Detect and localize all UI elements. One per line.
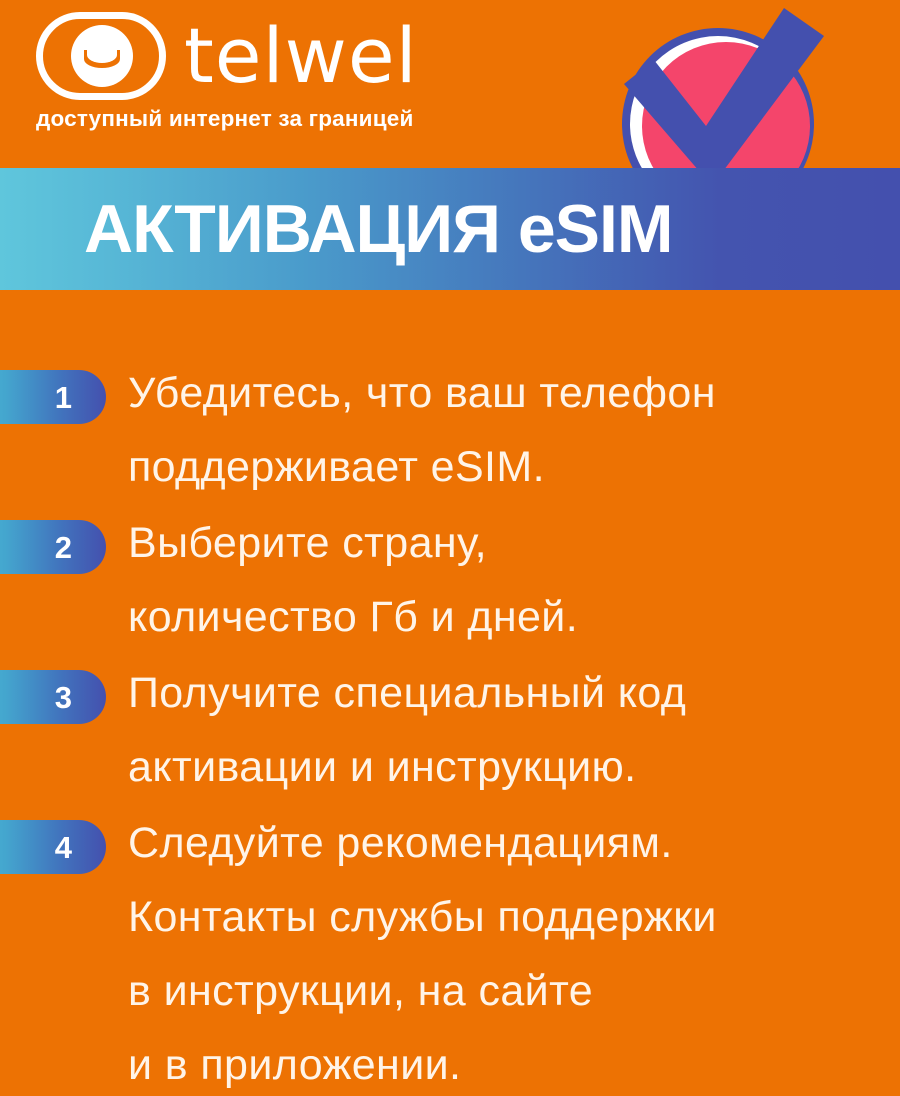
step-item-2: 2 Выберите страну, количество Гб и дней.	[0, 506, 900, 656]
step-item-3: 3 Получите специальный код активации и и…	[0, 656, 900, 806]
step-number-badge-1: 1	[0, 370, 106, 424]
step-line: Получите специальный код	[128, 656, 900, 730]
step-line: и в приложении.	[128, 1028, 900, 1096]
step-line: Следуйте рекомендациям.	[128, 806, 900, 880]
step-number-badge-3: 3	[0, 670, 106, 724]
step-line: Контакты службы поддержки	[128, 880, 900, 954]
telwel-smile-logo-icon	[34, 10, 168, 102]
step-line: количество Гб и дней.	[128, 580, 900, 654]
step-text-4: Следуйте рекомендациям. Контакты службы …	[128, 806, 900, 1096]
brand-tagline: доступный интернет за границей	[36, 106, 464, 132]
step-text-2: Выберите страну, количество Гб и дней.	[128, 506, 900, 654]
logo-smile-arc	[84, 50, 120, 68]
step-number-4: 4	[55, 832, 72, 863]
step-item-4: 4 Следуйте рекомендациям. Контакты служб…	[0, 806, 900, 1096]
step-line: Убедитесь, что ваш телефон	[128, 356, 900, 430]
esim-activation-poster: telwel доступный интернет за границей АК…	[0, 0, 900, 1096]
page-title: АКТИВАЦИЯ eSIM	[84, 194, 673, 264]
brand-wordmark: telwel	[184, 18, 418, 94]
step-line: Выберите страну,	[128, 506, 900, 580]
steps-list: 1 Убедитесь, что ваш телефон поддерживае…	[0, 356, 900, 1096]
step-line: активации и инструкцию.	[128, 730, 900, 804]
step-number-2: 2	[55, 532, 72, 563]
title-banner: АКТИВАЦИЯ eSIM	[0, 168, 900, 290]
step-number-badge-2: 2	[0, 520, 106, 574]
brand-logo: telwel доступный интернет за границей	[34, 8, 464, 138]
step-number-badge-4: 4	[0, 820, 106, 874]
step-text-1: Убедитесь, что ваш телефон поддерживает …	[128, 356, 900, 504]
step-item-1: 1 Убедитесь, что ваш телефон поддерживае…	[0, 356, 900, 506]
brand-logo-row: telwel	[34, 8, 464, 104]
step-number-3: 3	[55, 682, 72, 713]
step-line: поддерживает eSIM.	[128, 430, 900, 504]
check-mark-glyph	[624, 8, 824, 186]
step-line: в инструкции, на сайте	[128, 954, 900, 1028]
step-text-3: Получите специальный код активации и инс…	[128, 656, 900, 804]
step-number-1: 1	[55, 382, 72, 413]
